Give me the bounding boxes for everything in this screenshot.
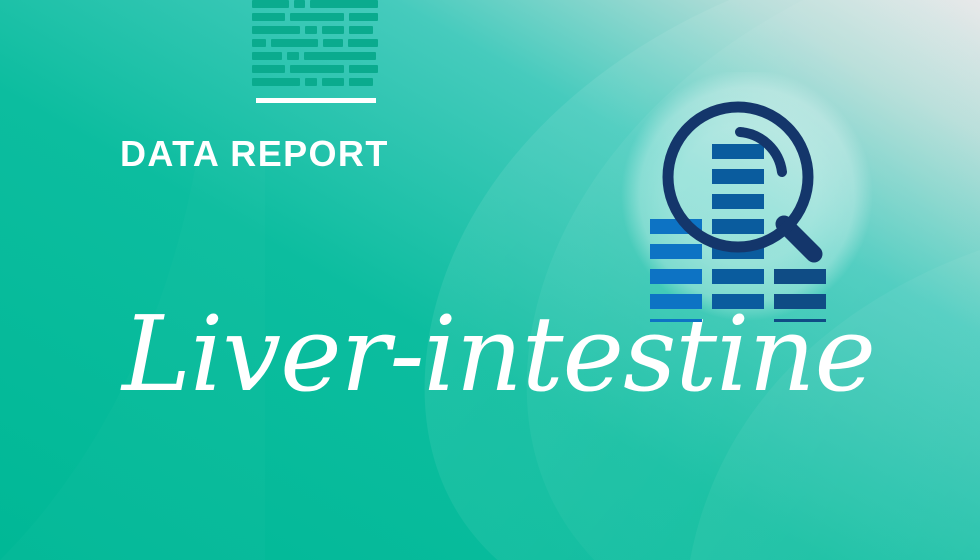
bar bbox=[712, 269, 764, 284]
doc-line-row bbox=[252, 39, 378, 47]
bar bbox=[774, 269, 826, 284]
doc-line-segment bbox=[349, 26, 373, 34]
kicker-label: DATA REPORT bbox=[120, 134, 389, 174]
doc-line-segment bbox=[322, 26, 344, 34]
doc-line-segment bbox=[322, 78, 344, 86]
doc-line-row bbox=[252, 52, 378, 60]
bar bbox=[650, 244, 702, 259]
bar bbox=[774, 294, 826, 309]
bar bbox=[712, 219, 764, 234]
bar bbox=[712, 194, 764, 209]
doc-line-segment bbox=[290, 65, 343, 73]
doc-line-segment bbox=[349, 78, 373, 86]
doc-line-segment bbox=[305, 78, 317, 86]
doc-line-segment bbox=[348, 39, 378, 47]
doc-line-segment bbox=[305, 26, 317, 34]
doc-line-row bbox=[252, 26, 378, 34]
magnifier-bar-chart-svg bbox=[614, 72, 884, 322]
bar bbox=[650, 269, 702, 284]
doc-line-segment bbox=[252, 52, 282, 60]
doc-line-segment bbox=[252, 39, 266, 47]
bar bbox=[712, 169, 764, 184]
title-divider-rule bbox=[256, 98, 376, 103]
bar bbox=[712, 294, 764, 309]
doc-line-segment bbox=[310, 0, 378, 8]
doc-line-segment bbox=[271, 39, 319, 47]
doc-line-segment bbox=[349, 65, 378, 73]
doc-line-segment bbox=[304, 52, 376, 60]
doc-line-segment bbox=[294, 0, 306, 8]
doc-line-row bbox=[252, 13, 378, 21]
doc-line-segment bbox=[252, 65, 285, 73]
document-text-lines bbox=[252, 0, 378, 91]
bar bbox=[650, 319, 702, 322]
data-report-banner: DATA REPORT Liver-intestine bbox=[0, 0, 980, 560]
doc-line-segment bbox=[252, 26, 300, 34]
doc-line-segment bbox=[252, 13, 285, 21]
magnifier-bar-chart-icon bbox=[614, 72, 884, 322]
bar bbox=[712, 144, 764, 159]
doc-line-row bbox=[252, 78, 378, 86]
doc-line-segment bbox=[290, 13, 343, 21]
doc-line-row bbox=[252, 65, 378, 73]
doc-line-segment bbox=[323, 39, 343, 47]
doc-line-segment bbox=[252, 0, 289, 8]
doc-line-segment bbox=[252, 78, 300, 86]
doc-line-segment bbox=[287, 52, 299, 60]
doc-line-row bbox=[252, 0, 378, 8]
bar bbox=[650, 294, 702, 309]
doc-line-segment bbox=[349, 13, 378, 21]
bar bbox=[774, 319, 826, 322]
